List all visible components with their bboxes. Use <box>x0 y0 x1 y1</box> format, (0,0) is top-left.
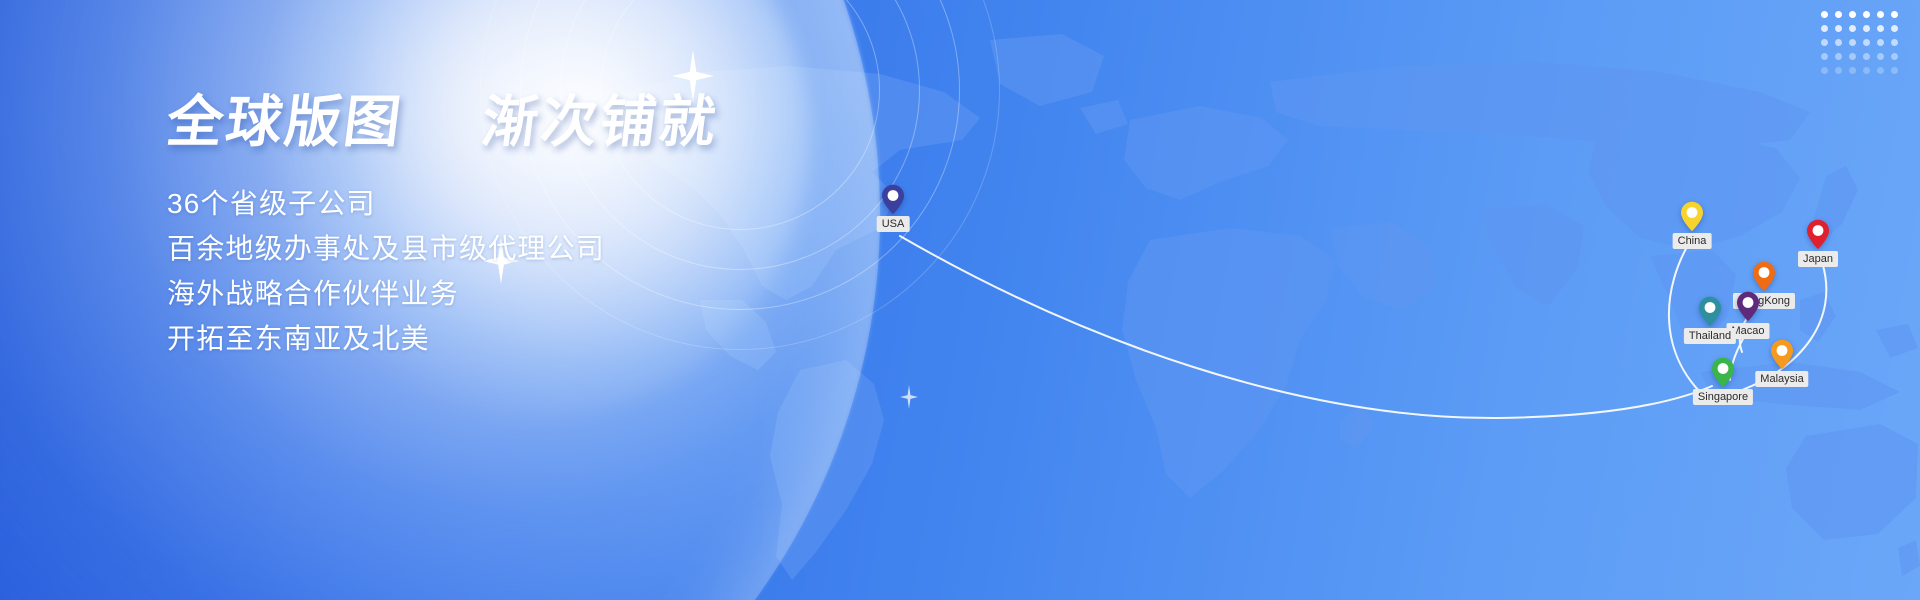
map-marker-label: Thailand <box>1684 328 1736 344</box>
subtitle-line-4: 开拓至东南亚及北美 <box>167 316 718 361</box>
map-marker-label: Singapore <box>1693 389 1753 405</box>
map-marker-singapore[interactable]: Singapore <box>1711 357 1735 388</box>
map-marker-label: China <box>1673 233 1712 249</box>
map-marker-thailand[interactable]: Thailand <box>1698 296 1722 327</box>
headline-part-1: 全球版图 <box>163 90 407 155</box>
banner-subtitle-list: 36个省级子公司 百余地级办事处及县市级代理公司 海外战略合作伙伴业务 开拓至东… <box>167 181 718 361</box>
map-marker-china[interactable]: China <box>1680 201 1704 232</box>
subtitle-line-2: 百余地级办事处及县市级代理公司 <box>167 226 718 271</box>
location-pin-icon <box>1698 296 1722 327</box>
global-map-banner: 全球版图 渐次铺就 36个省级子公司 百余地级办事处及县市级代理公司 海外战略合… <box>0 0 1920 600</box>
banner-copy: 全球版图 渐次铺就 36个省级子公司 百余地级办事处及县市级代理公司 海外战略合… <box>167 92 718 361</box>
location-pin-icon <box>1770 339 1794 370</box>
location-pin-icon <box>1711 357 1735 388</box>
location-pin-icon <box>1680 201 1704 232</box>
map-marker-label: USA <box>877 216 910 232</box>
page-title: 全球版图 渐次铺就 <box>163 92 722 155</box>
map-marker-malaysia[interactable]: Malaysia <box>1770 339 1794 370</box>
headline-part-2: 渐次铺就 <box>478 90 722 155</box>
location-pin-icon <box>1736 291 1760 322</box>
location-pin-icon <box>1752 261 1776 292</box>
map-marker-japan[interactable]: Japan <box>1806 219 1830 250</box>
map-marker-label: Japan <box>1798 251 1838 267</box>
subtitle-line-3: 海外战略合作伙伴业务 <box>167 271 718 316</box>
map-marker-macao[interactable]: Macao <box>1736 291 1760 322</box>
dot-grid-decoration <box>1818 8 1902 78</box>
map-marker-hongkong[interactable]: HongKong <box>1752 261 1776 292</box>
location-pin-icon <box>1806 219 1830 250</box>
map-marker-usa[interactable]: USA <box>881 184 905 215</box>
subtitle-line-1: 36个省级子公司 <box>167 181 718 226</box>
map-marker-label: Malaysia <box>1755 371 1808 387</box>
location-pin-icon <box>881 184 905 215</box>
